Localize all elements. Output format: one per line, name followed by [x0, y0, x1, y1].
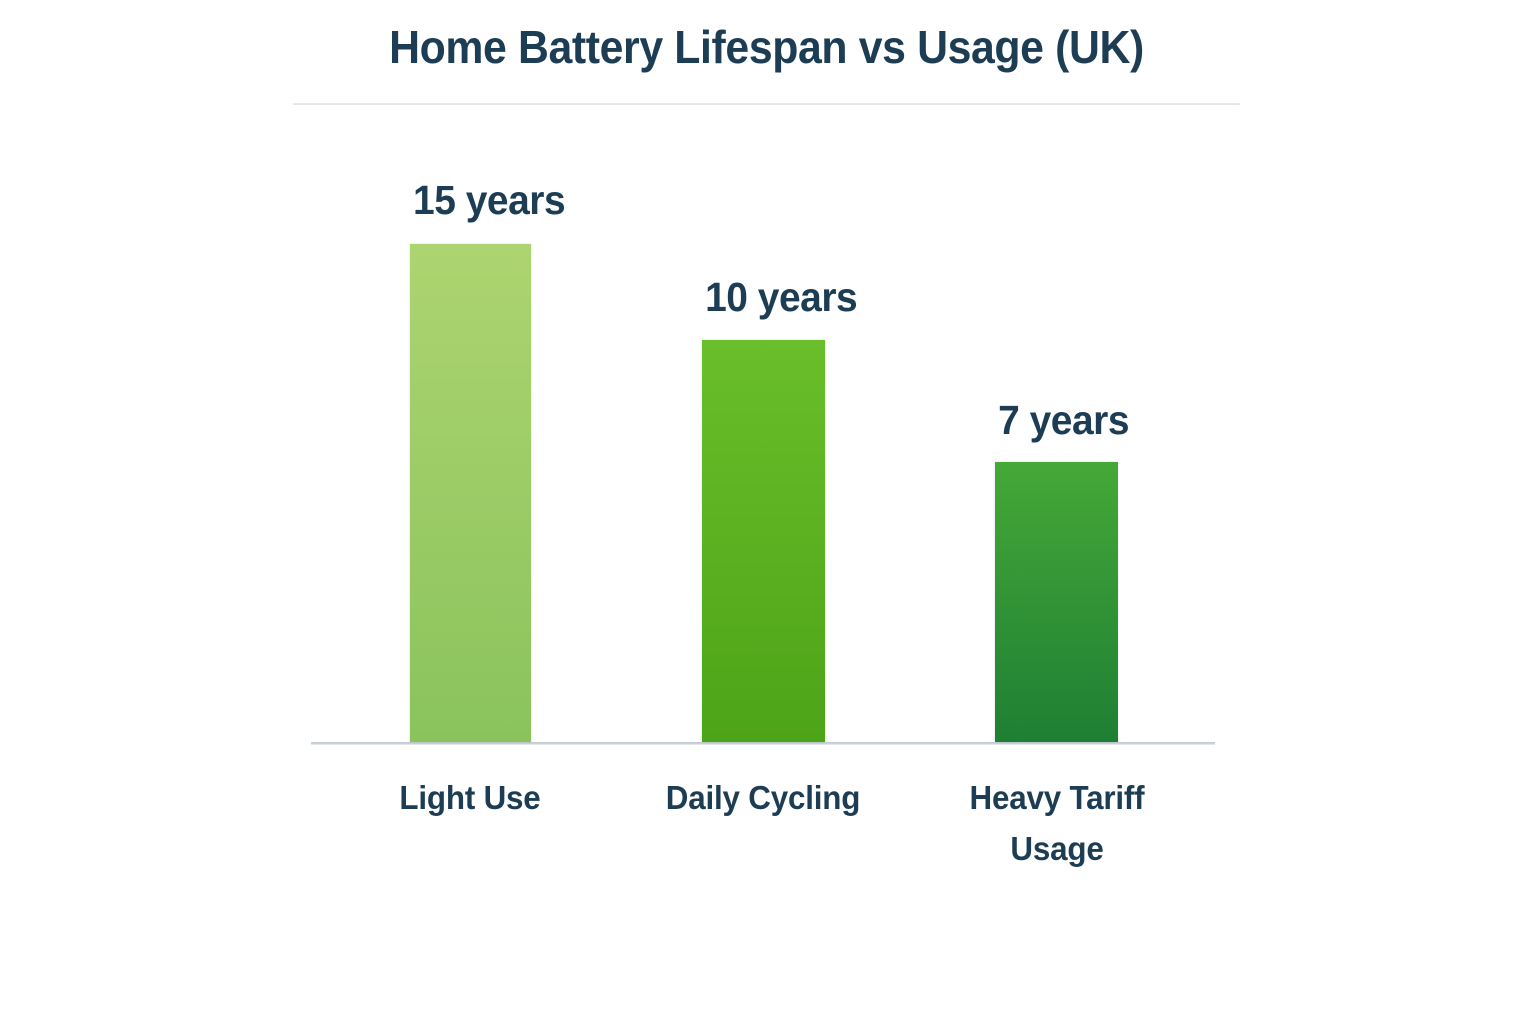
bar-category-label-daily-cycling: Daily Cycling	[649, 772, 877, 823]
bar-chart-figure: Home Battery Lifespan vs Usage (UK) 15 y…	[0, 0, 1536, 1024]
bar-daily-cycling[interactable]	[702, 340, 825, 742]
bar-category-label-heavy-tariff-usage: Heavy Tariff Usage	[953, 772, 1160, 874]
bar-value-label-heavy-tariff-usage: 7 years	[998, 400, 1115, 441]
bar-heavy-tariff-usage[interactable]	[995, 462, 1118, 742]
plot-area: 15 years Light Use 10 years Daily Cyclin…	[0, 0, 1536, 1024]
bar-value-label-light-use: 15 years	[413, 180, 528, 221]
bar-value-label-daily-cycling: 10 years	[705, 277, 822, 318]
axis-baseline	[311, 742, 1215, 745]
bar-light-use[interactable]	[410, 244, 531, 742]
bar-category-label-light-use: Light Use	[356, 772, 584, 823]
